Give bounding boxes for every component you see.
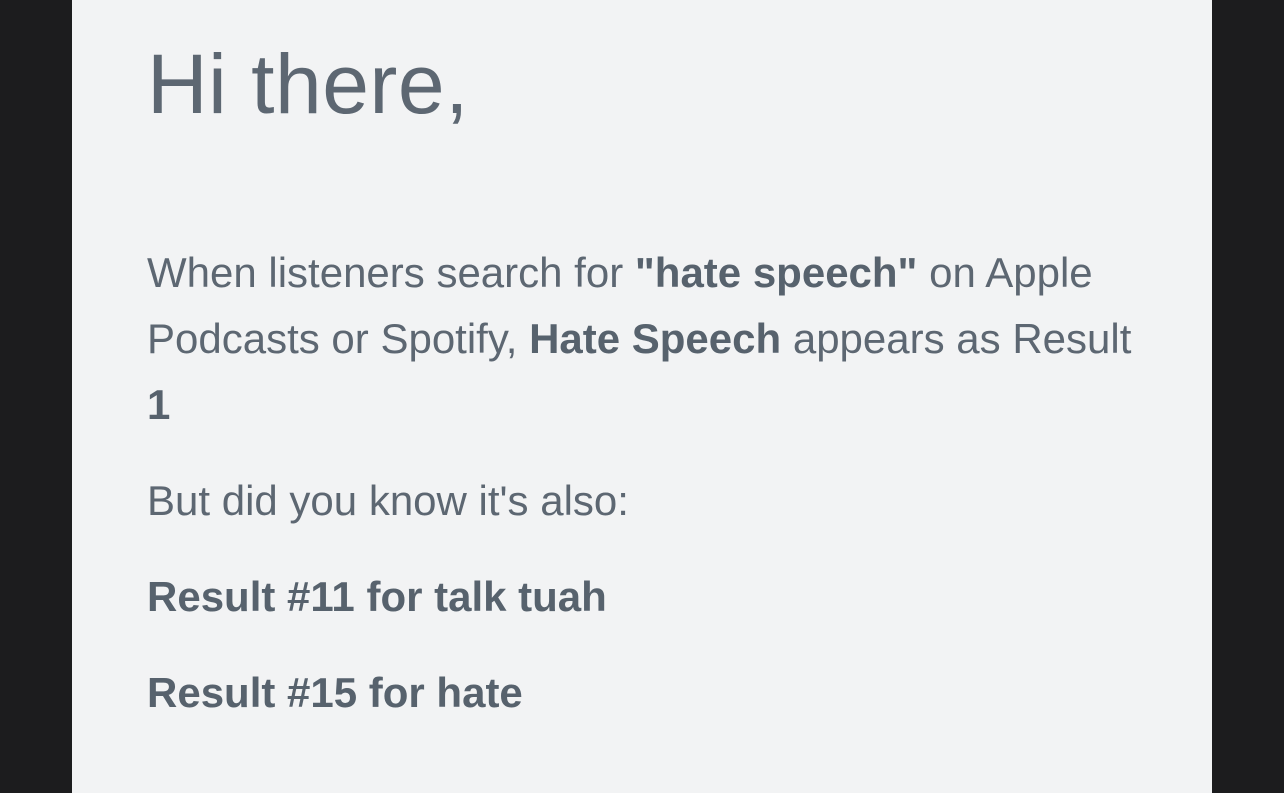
- result-item-talk-tuah: Result #11 for talk tuah: [147, 564, 1137, 630]
- intro-text-part-3: appears as Result: [781, 315, 1131, 362]
- heading-spacer: [147, 126, 1137, 240]
- paragraph-spacer-3: [147, 630, 1137, 660]
- page-title: Hi there,: [147, 0, 1137, 126]
- paragraph-spacer-2: [147, 534, 1137, 564]
- search-term-emphasis: "hate speech": [635, 249, 918, 296]
- paragraph-spacer-1: [147, 438, 1137, 468]
- email-content-card: Hi there, When listeners search for "hat…: [72, 0, 1212, 793]
- intro-paragraph: When listeners search for "hate speech" …: [147, 240, 1137, 438]
- result-rank-emphasis: 1: [147, 381, 170, 428]
- browser-viewport: Hi there, When listeners search for "hat…: [0, 0, 1284, 793]
- result-item-hate: Result #15 for hate: [147, 660, 1137, 726]
- lead-in-paragraph: But did you know it's also:: [147, 468, 1137, 534]
- intro-text-part-1: When listeners search for: [147, 249, 635, 296]
- show-name-emphasis: Hate Speech: [529, 315, 781, 362]
